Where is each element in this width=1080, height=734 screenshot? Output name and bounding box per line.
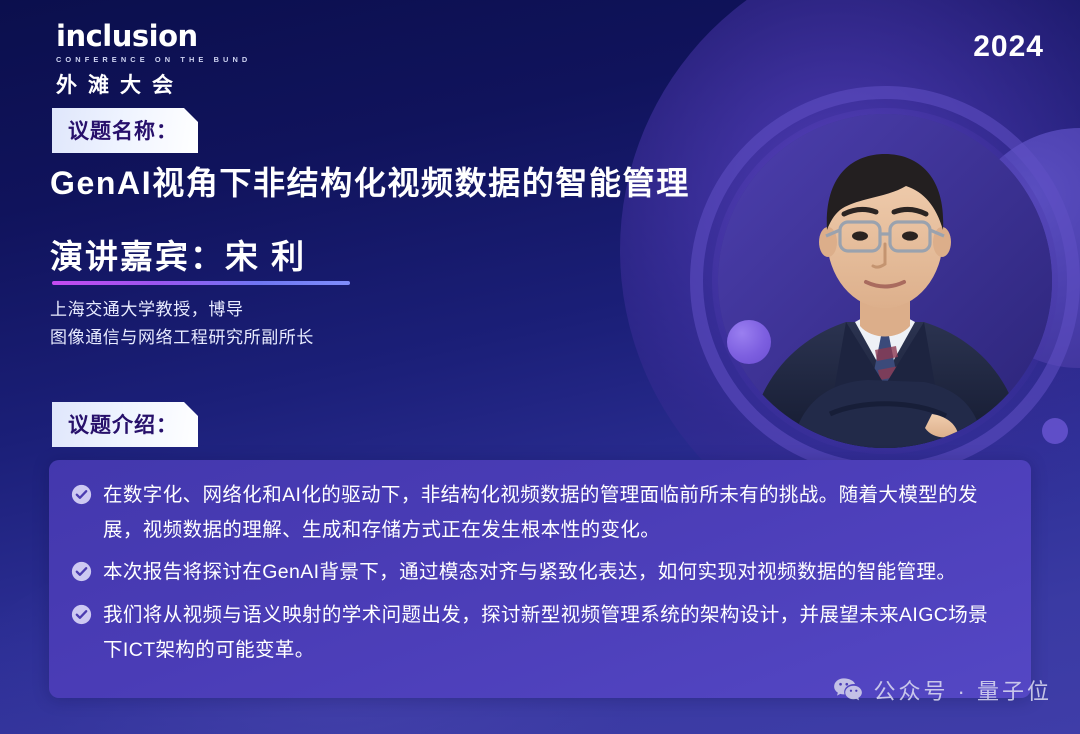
- intro-card: 在数字化、网络化和AI化的驱动下，非结构化视频数据的管理面临前所未有的挑战。随着…: [49, 460, 1031, 698]
- watermark: 公众号 · 量子位: [833, 674, 1052, 706]
- check-circle-icon: [71, 561, 92, 582]
- speaker-name: 演讲嘉宾：宋 利: [50, 230, 306, 278]
- speaker-portrait: [718, 114, 1052, 448]
- intro-bullet-item: 我们将从视频与语义映射的学术问题出发，探讨新型视频管理系统的架构设计，并展望未来…: [71, 598, 1005, 667]
- speaker-affiliation: 上海交通大学教授，博导 图像通信与网络工程研究所副所长: [50, 296, 314, 351]
- event-year: 2024: [973, 30, 1044, 64]
- decorative-dot-small: [727, 320, 771, 364]
- intro-label-badge: 议题介绍：: [52, 402, 198, 447]
- logo-chinese-name: 外滩大会: [56, 69, 276, 99]
- intro-bullet-text: 在数字化、网络化和AI化的驱动下，非结构化视频数据的管理面临前所未有的挑战。随着…: [103, 478, 1005, 547]
- check-circle-icon: [71, 604, 92, 625]
- affiliation-line-2: 图像通信与网络工程研究所副所长: [50, 324, 314, 352]
- intro-bullet-item: 在数字化、网络化和AI化的驱动下，非结构化视频数据的管理面临前所未有的挑战。随着…: [71, 478, 1005, 547]
- intro-bullet-text: 本次报告将探讨在GenAI背景下，通过模态对齐与紧致化表达，如何实现对视频数据的…: [103, 555, 956, 590]
- event-poster: inclusion CONFERENCE ON THE BUND 外滩大会 20…: [0, 0, 1080, 734]
- conference-logo: inclusion CONFERENCE ON THE BUND 外滩大会: [56, 22, 276, 99]
- check-circle-icon: [71, 484, 92, 505]
- wechat-icon: [833, 677, 863, 703]
- watermark-text: 公众号 · 量子位: [873, 674, 1052, 706]
- speaker-divider: [52, 281, 350, 285]
- affiliation-line-1: 上海交通大学教授，博导: [50, 296, 314, 324]
- talk-title: GenAI视角下非结构化视频数据的智能管理: [50, 158, 690, 204]
- logo-tagline: CONFERENCE ON THE BUND: [56, 55, 276, 64]
- intro-bullet-text: 我们将从视频与语义映射的学术问题出发，探讨新型视频管理系统的架构设计，并展望未来…: [103, 598, 1005, 667]
- logo-wordmark: inclusion: [56, 22, 276, 51]
- topic-label-badge: 议题名称：: [52, 108, 198, 153]
- intro-bullet-item: 本次报告将探讨在GenAI背景下，通过模态对齐与紧致化表达，如何实现对视频数据的…: [71, 555, 1005, 590]
- decorative-dot-tiny: [1042, 418, 1068, 444]
